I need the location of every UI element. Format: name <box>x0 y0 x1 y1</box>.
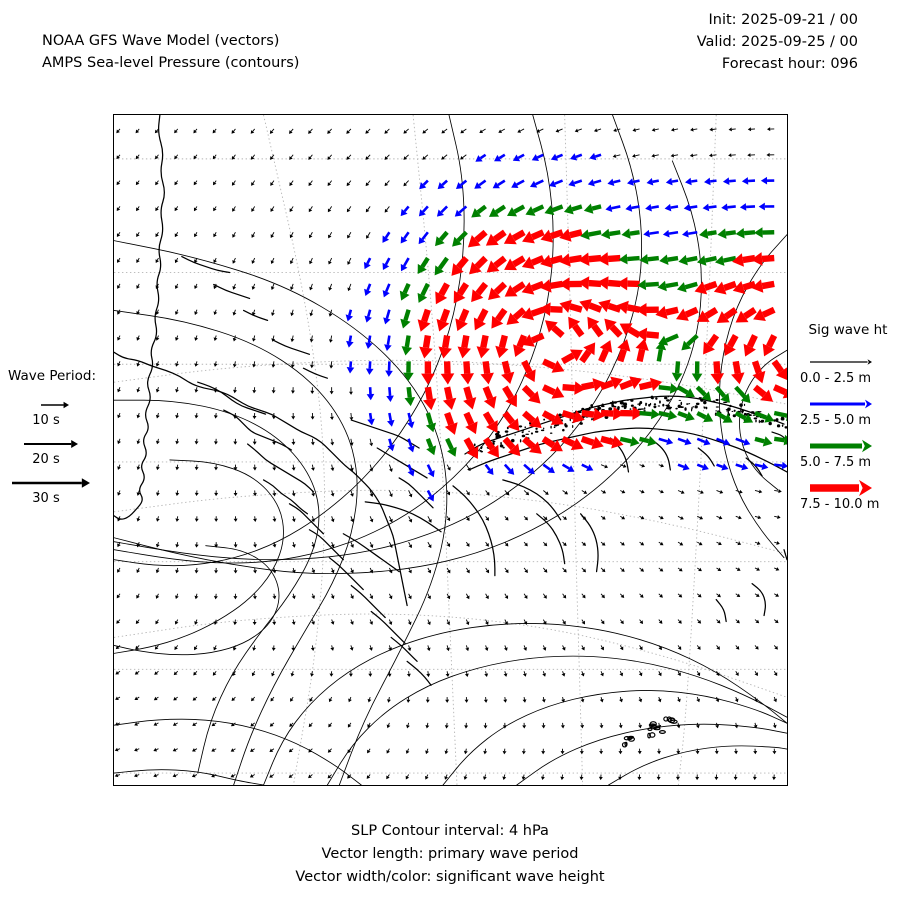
sig-wave-height-legend-title: Sig wave ht <box>800 322 896 338</box>
title-block: NOAA GFS Wave Model (vectors) AMPS Sea-l… <box>42 30 462 74</box>
sig-wave-height-arrow-0 <box>802 354 886 370</box>
wave-period-legend: Wave Period: 10 s20 s30 s <box>8 368 108 515</box>
sig-wave-height-legend-item-2: 5.0 - 7.5 m <box>800 438 900 470</box>
wave-period-legend-item-1: 20 s <box>8 437 108 467</box>
sig-wave-height-legend-label-2: 5.0 - 7.5 m <box>800 455 900 470</box>
title-line-1: NOAA GFS Wave Model (vectors) <box>42 30 462 52</box>
sig-wave-height-legend: Sig wave ht 0.0 - 2.5 m2.5 - 5.0 m5.0 - … <box>800 322 900 522</box>
title-line-2: AMPS Sea-level Pressure (contours) <box>42 52 462 74</box>
sig-wave-height-legend-item-1: 2.5 - 5.0 m <box>800 396 900 428</box>
wave-period-arrow-1 <box>8 437 94 451</box>
init-time: Init: 2025-09-21 / 00 <box>438 9 858 31</box>
wave-period-legend-item-0: 10 s <box>8 398 108 428</box>
sig-wave-height-arrow-1 <box>802 396 886 412</box>
wave-period-legend-label-2: 30 s <box>8 491 84 506</box>
wave-period-legend-label-1: 20 s <box>8 452 84 467</box>
wave-period-arrow-0 <box>8 398 94 412</box>
wave-period-legend-item-2: 30 s <box>8 476 108 506</box>
sig-wave-height-legend-label-1: 2.5 - 5.0 m <box>800 413 900 428</box>
wave-period-legend-label-0: 10 s <box>8 413 84 428</box>
sig-wave-height-legend-item-3: 7.5 - 10.0 m <box>800 480 900 512</box>
sig-wave-height-legend-label-3: 7.5 - 10.0 m <box>800 497 900 512</box>
forecast-hour: Forecast hour: 096 <box>438 53 858 75</box>
map-canvas[interactable] <box>114 115 787 785</box>
footer-line-2: Vector length: primary wave period <box>0 843 900 866</box>
wave-period-legend-title: Wave Period: <box>8 368 108 384</box>
footer-line-1: SLP Contour interval: 4 hPa <box>0 820 900 843</box>
map-panel[interactable] <box>113 114 788 786</box>
footer-caption: SLP Contour interval: 4 hPa Vector lengt… <box>0 820 900 889</box>
sig-wave-height-legend-item-0: 0.0 - 2.5 m <box>800 354 900 386</box>
footer-line-3: Vector width/color: significant wave hei… <box>0 866 900 889</box>
sig-wave-height-arrow-3 <box>802 480 886 496</box>
sig-wave-height-arrow-2 <box>802 438 886 454</box>
sig-wave-height-legend-label-0: 0.0 - 2.5 m <box>800 371 900 386</box>
forecast-metadata-block: Init: 2025-09-21 / 00 Valid: 2025-09-25 … <box>438 9 858 75</box>
wave-vector-layer <box>115 127 787 780</box>
wave-period-arrow-2 <box>8 476 94 490</box>
valid-time: Valid: 2025-09-25 / 00 <box>438 31 858 53</box>
